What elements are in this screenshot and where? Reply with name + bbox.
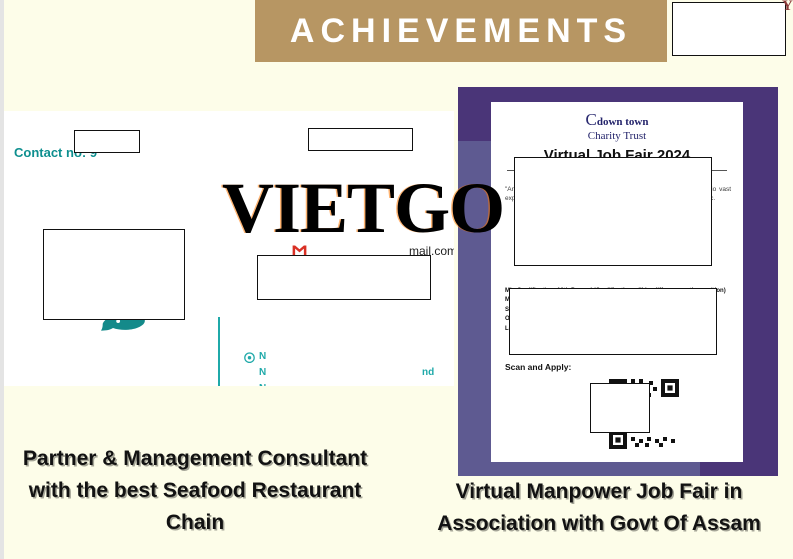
- vertical-divider: [218, 317, 220, 386]
- charity-trust-logo: Cdown town Charity Trust: [491, 110, 743, 142]
- email-redaction-box: [308, 128, 413, 151]
- address-line-1: N: [259, 351, 266, 362]
- caption-right: Virtual Manpower Job Fair in Association…: [405, 476, 793, 540]
- caption-left: Partner & Management Consultant with the…: [10, 443, 380, 539]
- document-body-redaction-box: [514, 157, 712, 266]
- top-right-redaction-box: [672, 2, 786, 56]
- vietgo-watermark: VIETGO: [222, 172, 504, 244]
- document-spec-redaction-box: [509, 288, 717, 355]
- scan-and-apply-label: Scan and Apply:: [505, 362, 571, 372]
- slide-stage: ACHIEVEMENTS Y Contact no: 9 mail.com R …: [0, 0, 793, 559]
- banner-title: ACHIEVEMENTS: [290, 14, 632, 48]
- logo-line-1: down town: [597, 116, 649, 128]
- logo-mark: C: [586, 110, 597, 129]
- logo-line-2: Charity Trust: [491, 130, 743, 142]
- address-tail: nd: [422, 367, 434, 378]
- address-line-3: N: [259, 383, 266, 386]
- location-pin-icon: [244, 352, 255, 365]
- contact-redaction-box: [74, 130, 140, 153]
- address-redaction-box: [257, 255, 431, 300]
- top-right-edge-mark: Y: [782, 0, 791, 14]
- qr-redaction-box: [590, 383, 650, 433]
- address-line-2: N: [259, 367, 266, 378]
- logo-redaction-box: [43, 229, 185, 320]
- achievements-banner: ACHIEVEMENTS: [255, 0, 667, 62]
